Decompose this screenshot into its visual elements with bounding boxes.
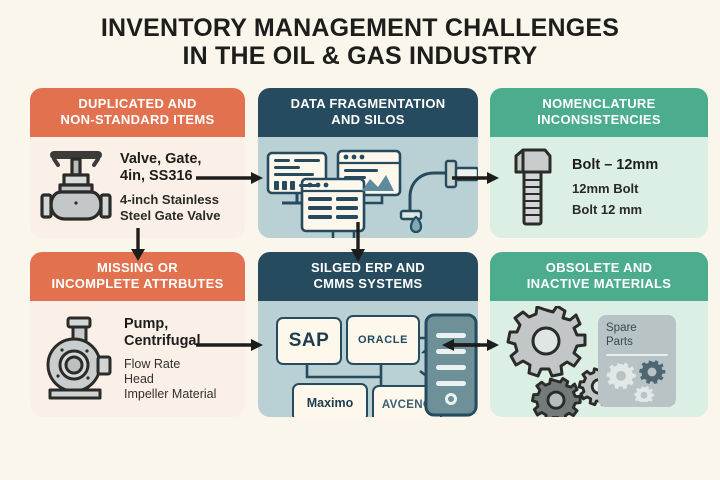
logo-sap[interactable]: SAP	[276, 317, 342, 365]
panel-fragmentation-body	[258, 137, 478, 238]
bolt-variant-1: Bolt – 12mm	[572, 157, 698, 174]
panel-missing-header-line-1: MISSING OR	[34, 260, 241, 276]
arrow-fragmentation-to-siloed	[351, 222, 363, 264]
panel-siloed-body: SAP ORACLE Maximo AVCENO	[258, 301, 478, 417]
gear-dark-icon	[532, 378, 580, 417]
duplicated-item-line-1: Valve, Gate,	[120, 151, 235, 168]
arrow-duplicated-to-fragmentation	[196, 172, 266, 184]
panel-duplicated-header: DUPLICATED AND NON-STANDARD ITEMS	[30, 88, 245, 137]
pump-attribute-2: Head	[124, 372, 235, 387]
arrow-duplicated-to-missing	[131, 228, 143, 262]
panel-siloed-header-line-1: SILGED ERP AND	[262, 260, 474, 276]
panel-obsolete-header-line-1: OBSOLETE AND	[494, 260, 704, 276]
panel-obsolete-header: OBSOLETE AND INACTIVE MATERIALS	[490, 252, 708, 301]
logo-maximo-label: Maximo	[307, 396, 354, 410]
panel-fragmentation-header-line-1: DATA FRAGMENTATION	[262, 96, 474, 112]
nomenclature-text-block: Bolt – 12mm 12mm Bolt Bolt 12 mm	[572, 157, 698, 218]
panel-duplicated-header-line-2: NON-STANDARD ITEMS	[34, 112, 241, 128]
panel-duplicated-header-line-1: DUPLICATED AND	[34, 96, 241, 112]
title-line-1: INVENTORY MANAGEMENT CHALLENGES	[101, 14, 619, 42]
panel-fragmentation-header: DATA FRAGMENTATION AND SILOS	[258, 88, 478, 137]
logo-sap-label: SAP	[289, 330, 330, 352]
spare-parts-card: Spare Parts	[598, 315, 676, 407]
missing-text-block: Pump, Centrifugal Flow Rate Head Impelle…	[124, 316, 235, 402]
panel-nomenclature-body: Bolt – 12mm 12mm Bolt Bolt 12 mm	[490, 137, 708, 238]
duplicated-text-block: Valve, Gate, 4in, SS316 4-inch Stainless…	[120, 151, 235, 224]
bolt-icon	[508, 146, 558, 230]
arrow-fragmentation-to-nomenclature	[452, 172, 502, 184]
panel-nomenclature-header: NOMENCLATURE INCONSISTENCIES	[490, 88, 708, 137]
panel-fragmentation-header-line-2: AND SILOS	[262, 112, 474, 128]
panel-siloed-header: SILGED ERP AND CMMS SYSTEMS	[258, 252, 478, 301]
panel-missing-header-line-2: INCOMPLETE ATTRBUTES	[34, 276, 241, 292]
title-line-2: IN THE OIL & GAS INDUSTRY	[0, 42, 720, 70]
panel-missing-body: Pump, Centrifugal Flow Rate Head Impelle…	[30, 301, 245, 417]
logo-maximo[interactable]: Maximo	[292, 383, 368, 417]
panel-obsolete-header-line-2: INACTIVE MATERIALS	[494, 276, 704, 292]
panel-siloed-erp[interactable]: SILGED ERP AND CMMS SYSTEMS SAP	[258, 252, 478, 417]
panel-nomenclature-header-line-1: NOMENCLATURE	[494, 96, 704, 112]
panel-missing-attributes[interactable]: MISSING OR INCOMPLETE ATTRBUTES	[30, 252, 245, 417]
spare-parts-gears-icon	[606, 360, 670, 402]
panel-nomenclature-header-line-2: INCONSISTENCIES	[494, 112, 704, 128]
gate-valve-icon	[40, 145, 112, 231]
centrifugal-pump-icon	[40, 314, 116, 404]
duplicated-alt-line-2: Steel Gate Valve	[120, 208, 235, 224]
panel-duplicated-body: Valve, Gate, 4in, SS316 4-inch Stainless…	[30, 137, 245, 238]
logo-oracle-label: ORACLE	[358, 334, 408, 346]
pump-line-1: Pump,	[124, 316, 235, 333]
panel-siloed-header-line-2: CMMS SYSTEMS	[262, 276, 474, 292]
spare-parts-line-1: Spare	[606, 322, 668, 336]
gear-icon	[508, 306, 585, 376]
bolt-variant-3: Bolt 12 mm	[572, 202, 698, 218]
arrow-missing-to-siloed	[196, 339, 266, 351]
bolt-variant-2: 12mm Bolt	[572, 181, 698, 197]
spare-parts-line-2: Parts	[606, 336, 668, 350]
pump-attribute-3: Impeller Material	[124, 387, 235, 402]
panel-obsolete-materials[interactable]: OBSOLETE AND INACTIVE MATERIALS	[490, 252, 708, 417]
page-title: INVENTORY MANAGEMENT CHALLENGES IN THE O…	[0, 14, 720, 70]
server-rack-icon	[422, 311, 478, 417]
panel-duplicated-items[interactable]: DUPLICATED AND NON-STANDARD ITEMS	[30, 88, 245, 238]
panel-data-fragmentation[interactable]: DATA FRAGMENTATION AND SILOS	[258, 88, 478, 238]
arrow-inbound-to-server	[440, 339, 480, 351]
infographic-canvas: INVENTORY MANAGEMENT CHALLENGES IN THE O…	[0, 0, 720, 480]
logo-oracle[interactable]: ORACLE	[346, 315, 420, 365]
panel-nomenclature[interactable]: NOMENCLATURE INCONSISTENCIES	[490, 88, 708, 238]
duplicated-alt-line-1: 4-inch Stainless	[120, 192, 235, 208]
pump-attribute-1: Flow Rate	[124, 357, 235, 372]
panel-obsolete-body: Spare Parts	[490, 301, 708, 417]
